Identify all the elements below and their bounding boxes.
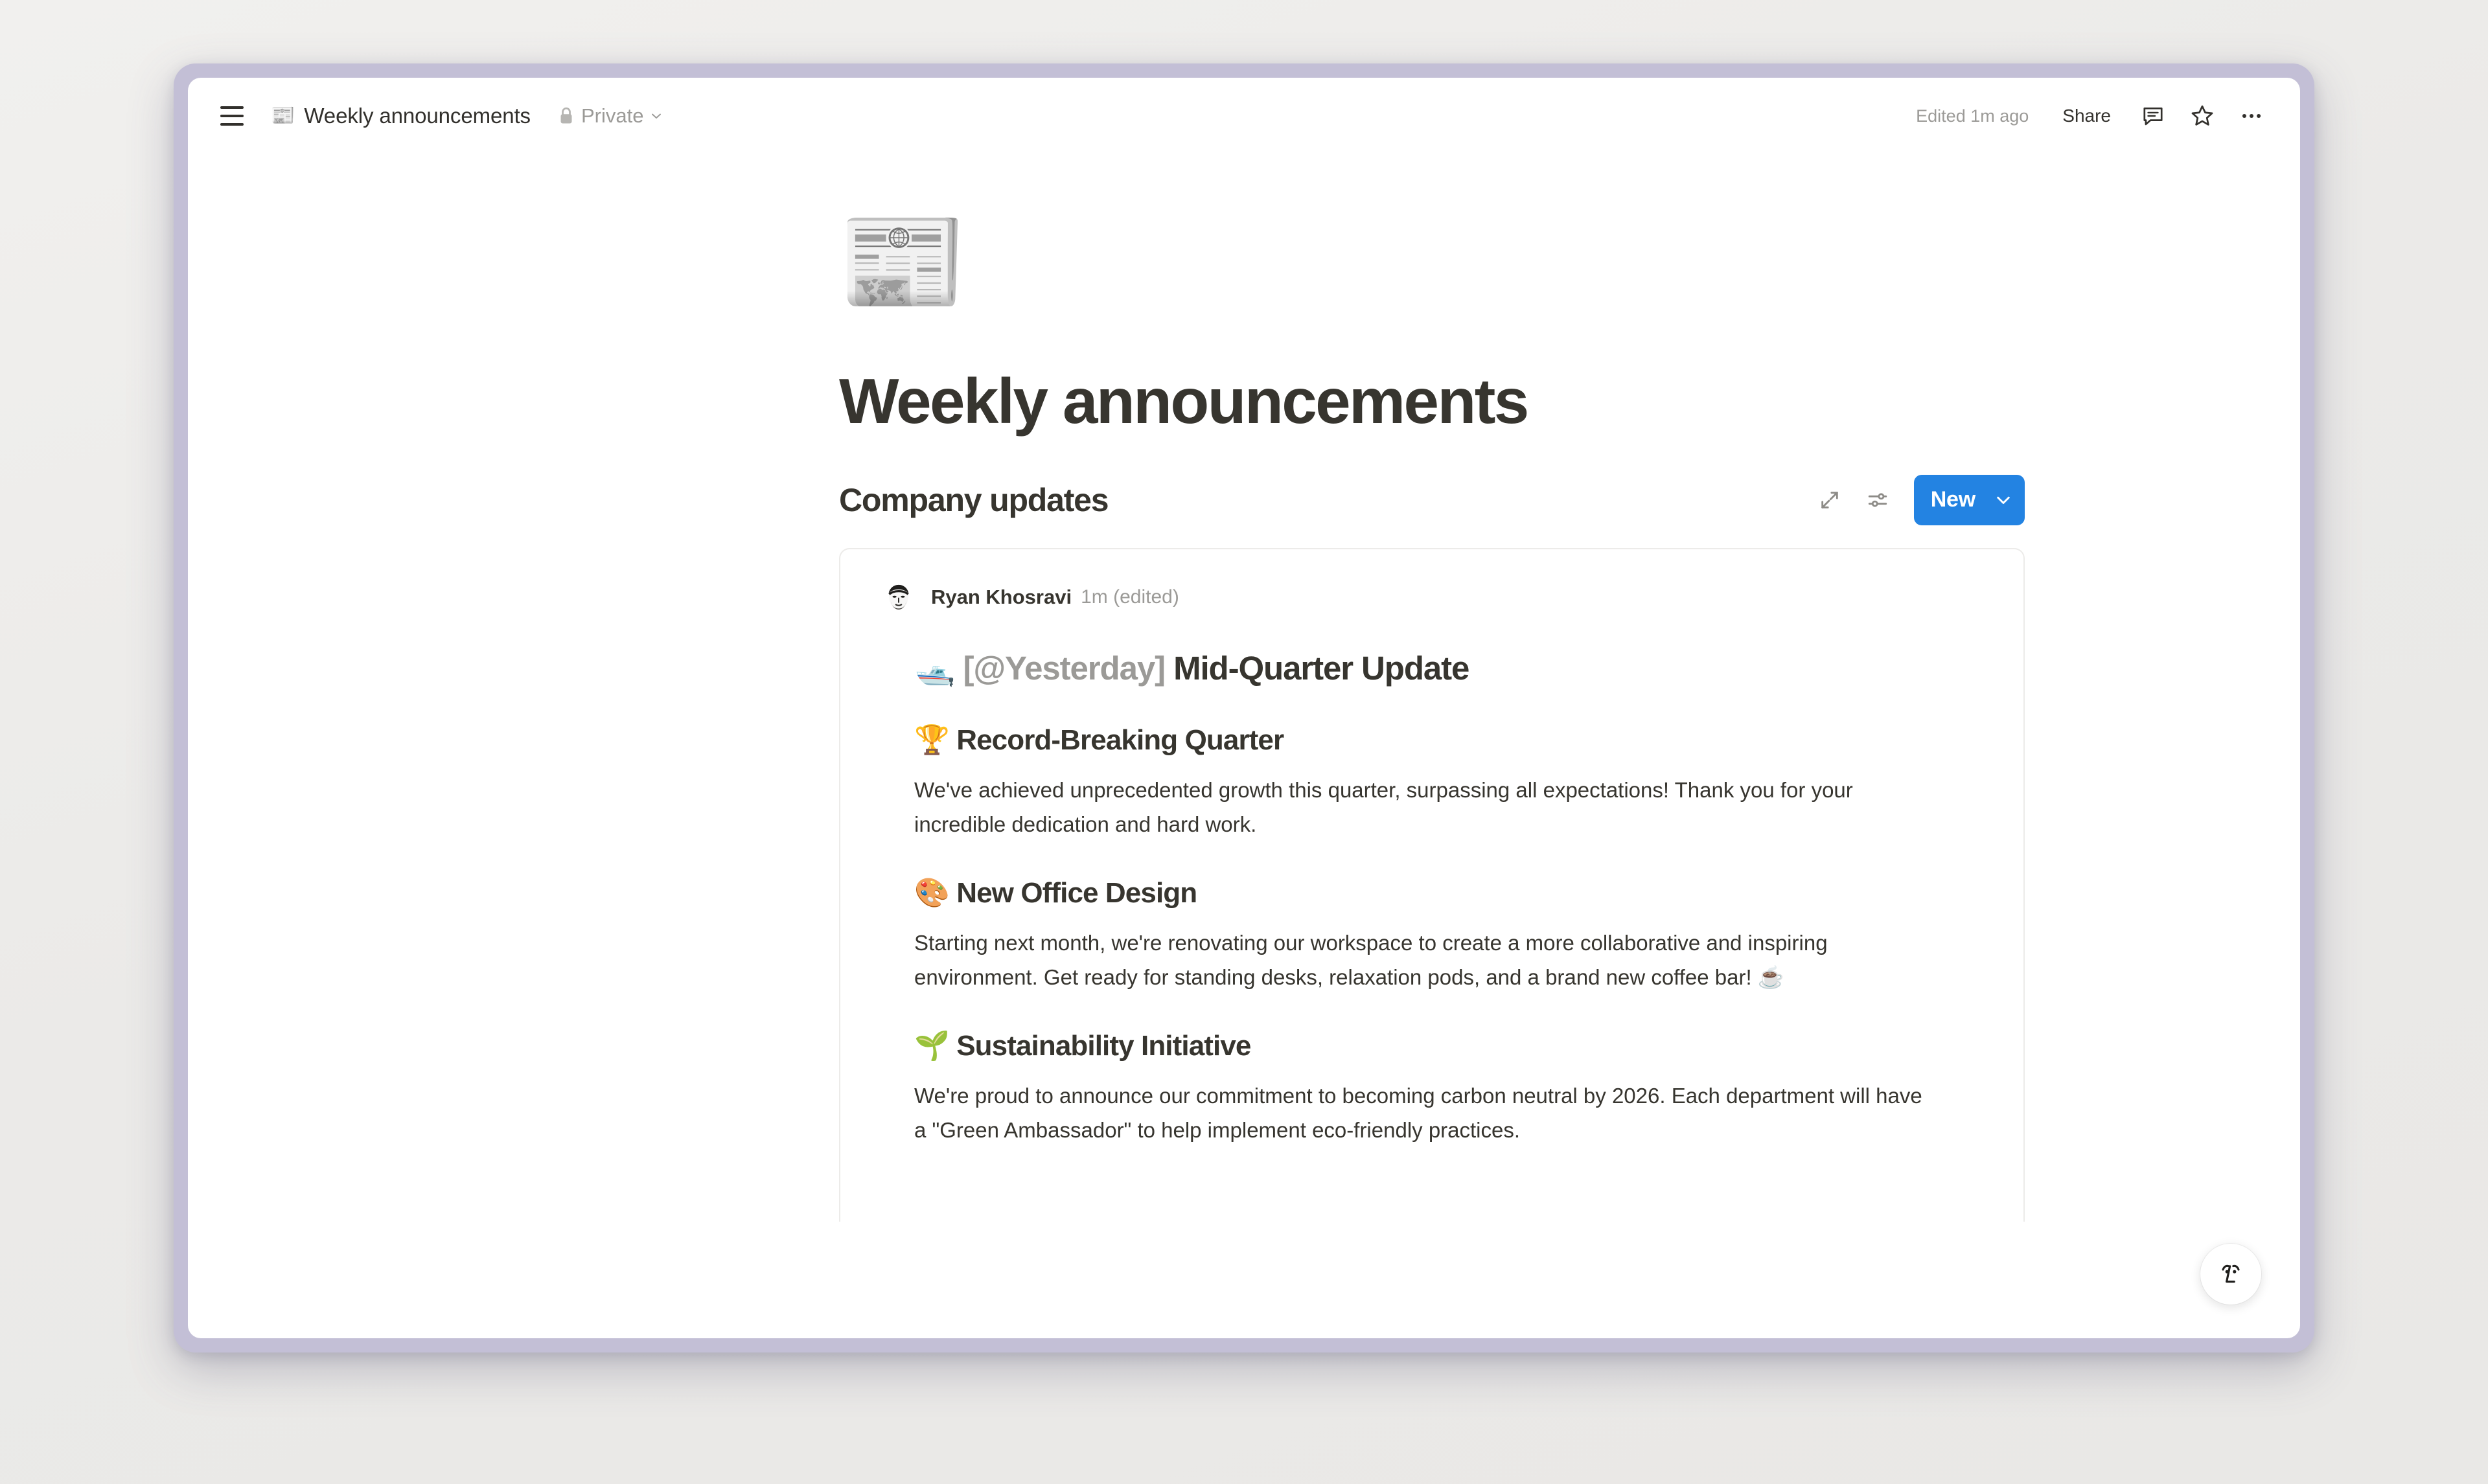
hamburger-icon <box>220 106 244 126</box>
ai-assistant-button[interactable] <box>2200 1244 2261 1305</box>
motor-boat-icon: 🛥️ <box>914 648 954 689</box>
avatar[interactable] <box>881 579 917 615</box>
comment-bubble-icon <box>2141 104 2165 128</box>
notion-ai-face-icon <box>2214 1257 2248 1291</box>
expand-icon <box>1819 489 1841 511</box>
page-icon-newspaper-icon[interactable]: 📰 <box>839 198 966 325</box>
post-card[interactable]: Ryan Khosravi 1m (edited) 🛥️ [@Yesterday… <box>839 548 2025 1222</box>
page-content: 📰 Weekly announcements Company updates <box>839 154 2025 1222</box>
trophy-icon: 🏆 <box>914 722 949 759</box>
breadcrumb[interactable]: 📰 Weekly announcements <box>264 98 537 133</box>
app-window-frame: 📰 Weekly announcements Private <box>174 63 2314 1353</box>
seedling-icon: 🌱 <box>914 1027 949 1064</box>
new-button-label: New <box>1931 487 1975 512</box>
edited-status[interactable]: Edited 1m ago <box>1906 100 2039 133</box>
privacy-label: Private <box>581 104 643 128</box>
post-section-body: We've achieved unprecedented growth this… <box>914 773 1938 842</box>
section-header-row: Company updates <box>839 470 2025 530</box>
post-section-heading-text: Record-Breaking Quarter <box>956 724 1284 756</box>
share-button[interactable]: Share <box>2049 98 2124 134</box>
star-icon[interactable] <box>2182 96 2222 136</box>
new-button[interactable]: New <box>1914 475 2025 525</box>
new-button-chevron-down-icon[interactable] <box>1986 483 2021 518</box>
section-title[interactable]: Company updates <box>839 481 1108 519</box>
post-section-heading: 🏆 Record-Breaking Quarter <box>914 722 1983 759</box>
comment-icon[interactable] <box>2133 96 2173 136</box>
post-author-name[interactable]: Ryan Khosravi <box>931 586 1072 609</box>
post-timestamp: 1m (edited) <box>1081 586 1179 608</box>
post-section-heading: 🎨 New Office Design <box>914 874 1983 911</box>
hamburger-menu-icon[interactable] <box>214 98 250 134</box>
more-options-icon <box>2239 104 2264 128</box>
breadcrumb-page-title: Weekly announcements <box>304 104 531 128</box>
date-mention[interactable]: [@Yesterday] <box>963 650 1165 687</box>
top-bar: 📰 Weekly announcements Private <box>188 78 2300 154</box>
post-meta: Ryan Khosravi 1m (edited) <box>881 579 1983 615</box>
page-title[interactable]: Weekly announcements <box>839 367 2025 437</box>
post-section-heading: 🌱 Sustainability Initiative <box>914 1027 1983 1064</box>
chevron-down-icon <box>650 109 663 122</box>
section-actions: New <box>1812 475 2025 525</box>
lock-icon <box>558 106 575 126</box>
post-heading: 🛥️ [@Yesterday] Mid-Quarter Update <box>914 648 1983 689</box>
artist-palette-icon: 🎨 <box>914 874 949 911</box>
expand-diagonal-icon[interactable] <box>1812 482 1848 518</box>
desktop-backdrop: 📰 Weekly announcements Private <box>0 0 2488 1484</box>
sliders-icon[interactable] <box>1860 482 1896 518</box>
post-body: 🛥️ [@Yesterday] Mid-Quarter Update 🏆 Rec… <box>881 615 1983 1148</box>
app-window: 📰 Weekly announcements Private <box>188 78 2300 1338</box>
post-section-heading-text: Sustainability Initiative <box>956 1030 1250 1062</box>
settings-sliders-icon <box>1867 489 1889 511</box>
user-avatar-icon <box>881 579 917 615</box>
privacy-selector[interactable]: Private <box>551 99 669 133</box>
top-bar-right: Edited 1m ago Share <box>1906 96 2272 136</box>
top-bar-left: 📰 Weekly announcements Private <box>214 98 1906 134</box>
post-heading-rest: Mid-Quarter Update <box>1165 650 1469 687</box>
newspaper-icon: 📰 <box>271 106 295 126</box>
post-section-body: Starting next month, we're renovating ou… <box>914 926 1938 995</box>
page-scroll-area[interactable]: 📰 Weekly announcements Company updates <box>188 154 2300 1338</box>
chevron-down-icon <box>1994 490 2013 510</box>
post-section-heading-text: New Office Design <box>956 877 1197 909</box>
favorite-star-icon <box>2190 104 2215 128</box>
ellipsis-icon[interactable] <box>2231 96 2272 136</box>
post-section-body: We're proud to announce our commitment t… <box>914 1079 1938 1148</box>
